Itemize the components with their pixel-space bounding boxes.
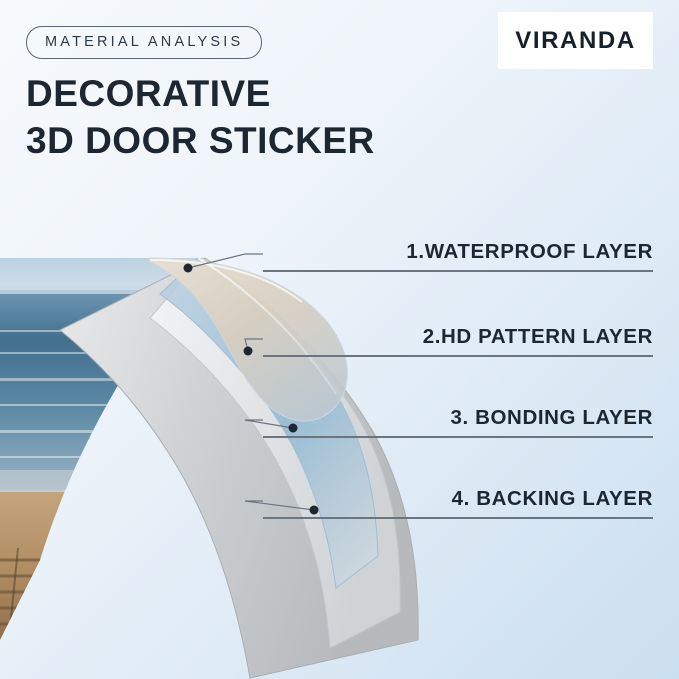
title-line-1: DECORATIVE [26,70,375,117]
callout-rule-2 [263,355,653,357]
callout-2: 2.HD PATTERN LAYER [263,325,653,357]
page-title: DECORATIVE 3D DOOR STICKER [26,70,375,165]
callout-4: 4. BACKING LAYER [263,487,653,519]
eyebrow-badge: MATERIAL ANALYSIS [26,26,262,59]
poster-canvas: MATERIAL ANALYSIS DECORATIVE 3D DOOR STI… [0,0,679,679]
callout-3: 3. BONDING LAYER [263,406,653,438]
callout-1: 1.WATERPROOF LAYER [263,240,653,272]
callout-label-4: 4. BACKING LAYER [263,487,653,517]
brand-logo-box: VIRANDA [498,12,653,69]
callout-rule-4 [263,517,653,519]
callout-label-1: 1.WATERPROOF LAYER [263,240,653,270]
callout-rule-3 [263,436,653,438]
callout-label-3: 3. BONDING LAYER [263,406,653,436]
title-line-2: 3D DOOR STICKER [26,117,375,164]
callout-label-2: 2.HD PATTERN LAYER [263,325,653,355]
callout-rule-1 [263,270,653,272]
brand-name: VIRANDA [515,27,636,55]
